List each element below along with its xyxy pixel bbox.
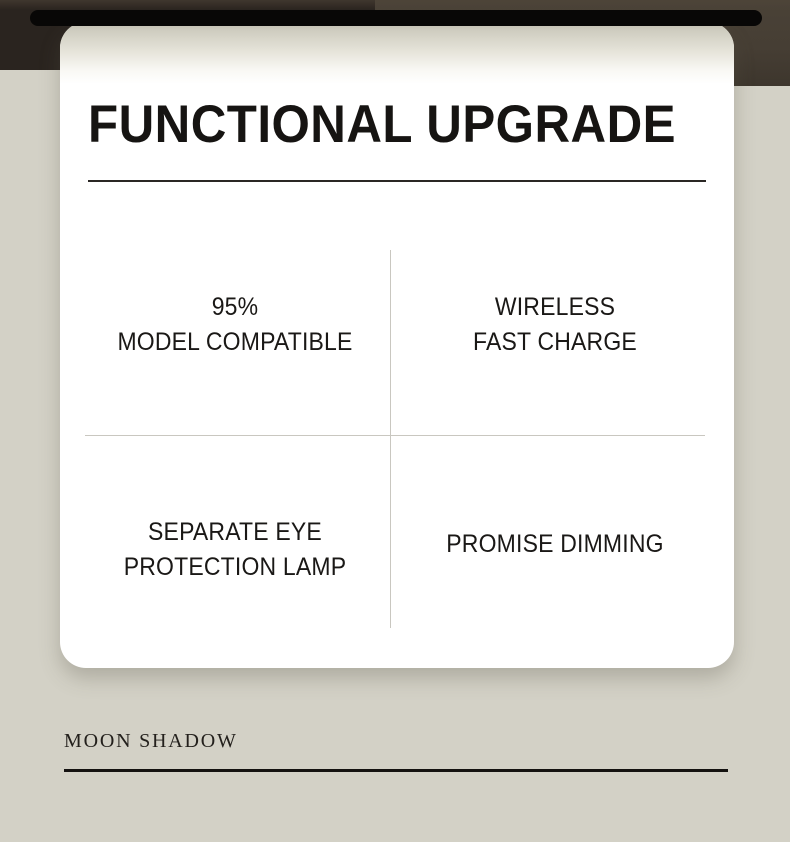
feature-line: 95%: [97, 290, 373, 325]
footer-rule: [64, 769, 728, 772]
feature-cell-wireless-fast-charge: WIRELESS FAST CHARGE: [417, 290, 693, 360]
feature-line: WIRELESS: [417, 290, 693, 325]
feature-card: FUNCTIONAL UPGRADE 95% MODEL COMPATIBLE …: [60, 22, 734, 668]
feature-line: PROTECTION LAMP: [97, 550, 373, 585]
top-banner-sheen: [0, 0, 790, 10]
grid-vertical-divider: [390, 250, 391, 628]
feature-line: MODEL COMPATIBLE: [97, 325, 373, 360]
title-underline: [88, 180, 706, 182]
feature-cell-model-compatible: 95% MODEL COMPATIBLE: [97, 290, 373, 360]
feature-line: SEPARATE EYE: [97, 515, 373, 550]
mounting-rail-bar: [30, 10, 762, 26]
feature-line: PROMISE DIMMING: [417, 527, 693, 562]
feature-cell-promise-dimming: PROMISE DIMMING: [417, 527, 693, 562]
page-title: FUNCTIONAL UPGRADE: [88, 94, 665, 156]
feature-line: FAST CHARGE: [417, 325, 693, 360]
brand-name: MOON SHADOW: [64, 728, 238, 754]
grid-horizontal-divider: [85, 435, 705, 436]
top-banner-left-notch: [0, 70, 60, 86]
card-top-shadow-gradient: [60, 22, 734, 84]
feature-cell-eye-protection-lamp: SEPARATE EYE PROTECTION LAMP: [97, 515, 373, 585]
feature-grid: 95% MODEL COMPATIBLE WIRELESS FAST CHARG…: [85, 232, 709, 644]
